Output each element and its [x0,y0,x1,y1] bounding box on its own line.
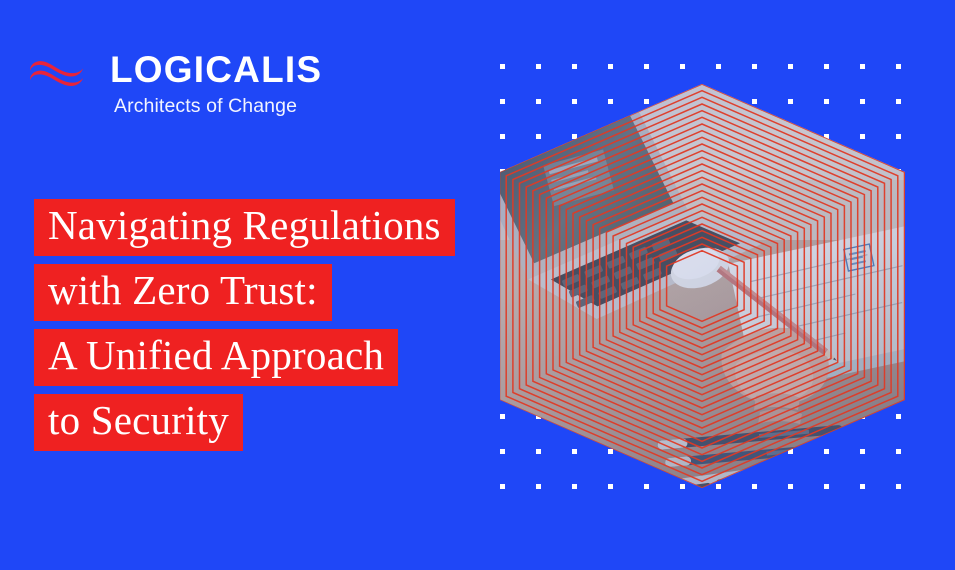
headline: Navigating Regulations with Zero Trust: … [34,199,504,459]
headline-line-3-text: A Unified Approach [48,332,384,379]
logicalis-wordmark: LOGICALIS [110,52,325,88]
headline-line-4: to Security [34,394,243,451]
headline-line-2: with Zero Trust: [34,264,332,321]
hexagon-photo-composition [460,0,955,570]
logicalis-infinity-ribbon-icon [26,58,88,92]
headline-line-4-text: to Security [48,397,229,444]
logicalis-wordmark-text: LOGICALIS [110,52,325,88]
headline-line-1: Navigating Regulations [34,199,455,256]
headline-line-2-text: with Zero Trust: [48,267,318,314]
headline-line-1-text: Navigating Regulations [48,202,441,249]
headline-line-3: A Unified Approach [34,329,398,386]
hero-graphic [460,0,955,570]
brand-logo[interactable]: LOGICALIS Architects of Change [26,52,326,114]
promo-banner: LOGICALIS Architects of Change Navigatin… [0,0,955,570]
brand-tagline: Architects of Change [114,94,297,118]
